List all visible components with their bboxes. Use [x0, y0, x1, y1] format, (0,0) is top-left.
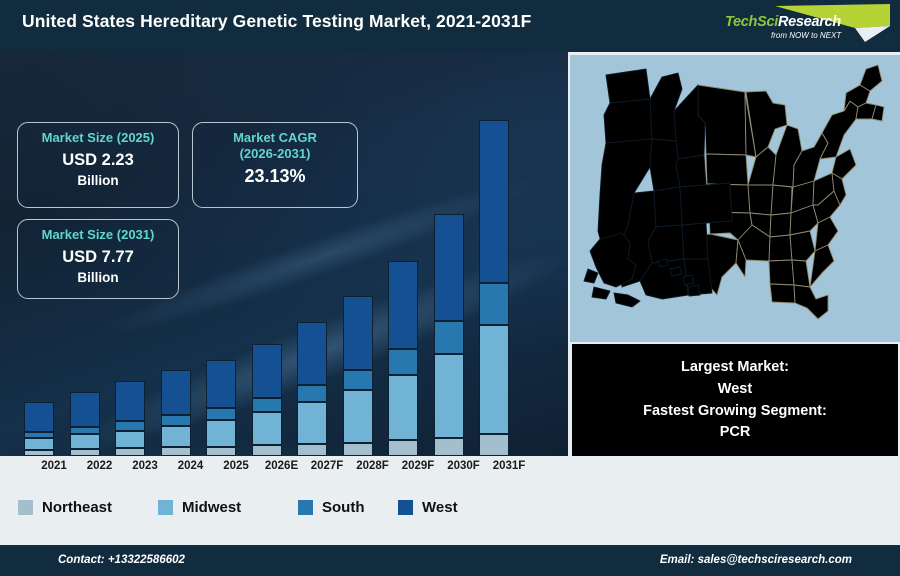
bar-segment-west[interactable]: [70, 392, 100, 427]
legend-item-midwest[interactable]: Midwest: [158, 499, 241, 516]
legend-swatch-northeast: [18, 500, 33, 515]
logo-brand-first: TechSci: [725, 14, 778, 30]
bar-segment-south[interactable]: [70, 427, 100, 434]
info-line-0: Largest Market:: [681, 357, 789, 378]
bar-segment-northeast[interactable]: [70, 449, 100, 456]
bar-2021[interactable]: [24, 402, 54, 456]
bar-segment-west[interactable]: [252, 344, 282, 398]
bar-segment-northeast[interactable]: [479, 434, 509, 456]
bar-segment-west[interactable]: [388, 261, 418, 348]
bar-segment-northeast[interactable]: [252, 445, 282, 456]
infographic-page: United States Hereditary Genetic Testing…: [0, 0, 900, 576]
legend-label: Midwest: [182, 499, 241, 516]
bar-2029F[interactable]: [388, 261, 418, 456]
info-line-3: PCR: [720, 422, 751, 443]
bar-2031F[interactable]: [479, 120, 509, 456]
page-title: United States Hereditary Genetic Testing…: [22, 11, 531, 32]
bar-segment-west[interactable]: [297, 322, 327, 385]
bar-2023[interactable]: [115, 381, 145, 456]
kpi-title: Market Size (2025): [18, 130, 178, 146]
bar-segment-west[interactable]: [161, 370, 191, 415]
kpi-value: USD 2.23: [18, 149, 178, 171]
bar-segment-south[interactable]: [343, 370, 373, 391]
bar-segment-midwest[interactable]: [70, 434, 100, 449]
bar-segment-midwest[interactable]: [161, 426, 191, 448]
bar-segment-midwest[interactable]: [297, 402, 327, 444]
bar-segment-midwest[interactable]: [388, 375, 418, 441]
bar-segment-midwest[interactable]: [115, 431, 145, 449]
bar-segment-northeast[interactable]: [161, 447, 191, 456]
us-map: [570, 55, 900, 342]
bar-segment-west[interactable]: [479, 120, 509, 283]
bar-segment-northeast[interactable]: [206, 447, 236, 457]
logo-brand-second: Research: [778, 14, 841, 30]
kpi-card-market-size-2031: Market Size (2031) USD 7.77 Billion: [17, 219, 179, 299]
legend-item-northeast[interactable]: Northeast: [18, 499, 112, 516]
bar-2025[interactable]: [206, 360, 236, 456]
kpi-card-market-size-2025: Market Size (2025) USD 2.23 Billion: [17, 122, 179, 208]
bar-segment-midwest[interactable]: [252, 412, 282, 445]
bar-segment-midwest[interactable]: [343, 390, 373, 442]
footer-contact: Contact: +13322586602: [58, 554, 185, 566]
legend-label: South: [322, 499, 365, 516]
bar-segment-midwest[interactable]: [434, 354, 464, 438]
bar-segment-west[interactable]: [434, 214, 464, 321]
bar-segment-northeast[interactable]: [343, 443, 373, 456]
footer-bar: Contact: +13322586602 Email: sales@techs…: [0, 545, 900, 576]
bar-segment-west[interactable]: [115, 381, 145, 421]
bar-segment-northeast[interactable]: [297, 444, 327, 456]
bar-segment-south[interactable]: [388, 349, 418, 375]
bar-segment-south[interactable]: [252, 398, 282, 412]
header-bar: United States Hereditary Genetic Testing…: [0, 0, 900, 52]
bar-segment-midwest[interactable]: [24, 438, 54, 450]
kpi-card-market-cagr: Market CAGR (2026-2031) 23.13%: [192, 122, 358, 208]
bar-segment-south[interactable]: [297, 385, 327, 402]
kpi-subtitle: (2026-2031): [193, 146, 357, 162]
kpi-value: 23.13%: [193, 164, 357, 188]
x-tick-2031F: 2031F: [482, 460, 536, 472]
kpi-title: Market Size (2031): [18, 227, 178, 243]
bar-2022[interactable]: [70, 392, 100, 456]
footer-email: Email: sales@techsciresearch.com: [660, 554, 852, 566]
key-findings-box: Largest Market:WestFastest Growing Segme…: [572, 344, 898, 456]
bar-2026E[interactable]: [252, 344, 282, 456]
kpi-value: USD 7.77: [18, 246, 178, 268]
bar-segment-west[interactable]: [24, 402, 54, 432]
bar-segment-west[interactable]: [343, 296, 373, 370]
chart-panel: Market Size (2025) USD 2.23 Billion Mark…: [0, 52, 568, 456]
bar-segment-south[interactable]: [479, 283, 509, 326]
kpi-unit: Billion: [18, 172, 178, 190]
us-map-svg: [570, 55, 900, 342]
bar-segment-midwest[interactable]: [206, 420, 236, 446]
bar-segment-south[interactable]: [161, 415, 191, 426]
bar-segment-midwest[interactable]: [479, 325, 509, 434]
legend-item-west[interactable]: West: [398, 499, 458, 516]
bar-segment-northeast[interactable]: [388, 440, 418, 456]
bar-2024[interactable]: [161, 370, 191, 456]
legend-swatch-midwest: [158, 500, 173, 515]
info-line-2: Fastest Growing Segment:: [643, 401, 827, 422]
bar-2027F[interactable]: [297, 322, 327, 456]
legend-label: Northeast: [42, 499, 112, 516]
bar-segment-south[interactable]: [115, 421, 145, 430]
bar-segment-northeast[interactable]: [115, 448, 145, 456]
bar-segment-south[interactable]: [434, 321, 464, 354]
bar-segment-northeast[interactable]: [434, 438, 464, 456]
legend-label: West: [422, 499, 458, 516]
bar-2028F[interactable]: [343, 296, 373, 456]
legend-swatch-south: [298, 500, 313, 515]
x-axis-labels: 202120222023202420252026E2027F2028F2029F…: [0, 456, 568, 482]
techsci-logo: TechSciResearch from NOW to NEXT: [715, 2, 890, 48]
info-line-1: West: [718, 379, 752, 400]
legend-item-south[interactable]: South: [298, 499, 365, 516]
bar-2030F[interactable]: [434, 214, 464, 456]
bar-segment-west[interactable]: [206, 360, 236, 408]
logo-wordmark: TechSciResearch: [725, 14, 841, 30]
legend-swatch-west: [398, 500, 413, 515]
bar-segment-south[interactable]: [206, 408, 236, 421]
logo-tagline: from NOW to NEXT: [771, 31, 841, 40]
kpi-unit: Billion: [18, 269, 178, 287]
kpi-title: Market CAGR: [193, 130, 357, 146]
chart-legend: NortheastMidwestSouthWest: [0, 482, 568, 545]
